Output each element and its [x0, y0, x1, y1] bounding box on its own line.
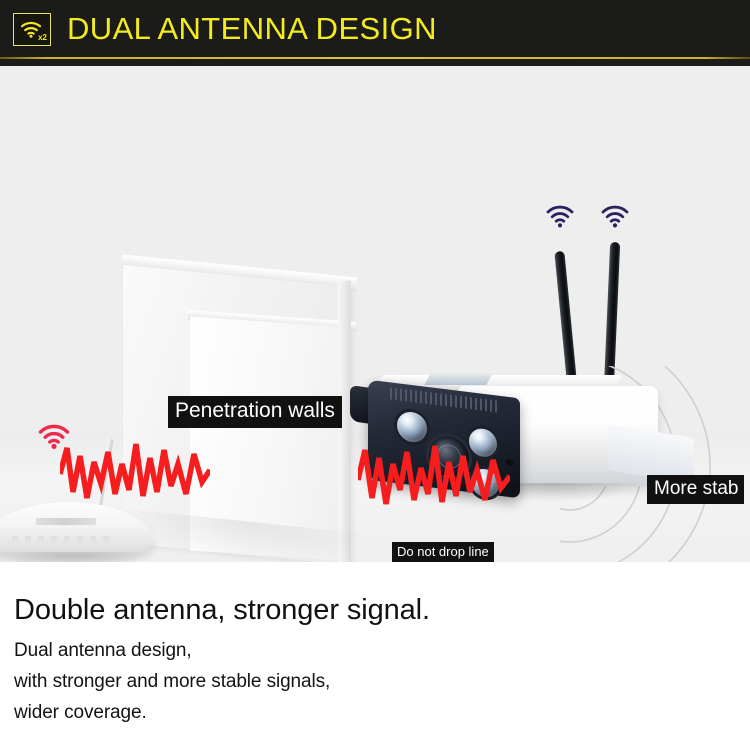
label-penetration-walls: Penetration walls: [168, 396, 342, 428]
router-shadow: [0, 552, 156, 562]
hero-illustration: Penetration walls Do not drop line More …: [0, 66, 750, 562]
section-footer-text: Double antenna, stronger signal. Dual an…: [0, 569, 750, 750]
router-indicator-leds: [12, 536, 112, 541]
router-brand-mark: [36, 518, 96, 525]
product-feature-page: x2 DUAL ANTENNA DESIGN: [0, 0, 750, 750]
wifi-multiplier-label: x2: [38, 34, 47, 42]
red-signal-waveform: [60, 434, 210, 515]
section-header: x2 DUAL ANTENNA DESIGN: [0, 0, 750, 66]
page-title: DUAL ANTENNA DESIGN: [67, 12, 437, 46]
header-divider: [0, 57, 750, 59]
footer-line-2: with stronger and more stable signals,: [14, 666, 750, 697]
red-signal-waveform: [358, 438, 510, 521]
label-do-not-drop-line: Do not drop line: [392, 542, 494, 562]
footer-line-1: Dual antenna design,: [14, 635, 750, 666]
wifi-signal-icon: [546, 205, 574, 234]
footer-heading: Double antenna, stronger signal.: [14, 591, 750, 629]
label-more-stable: More stab: [647, 475, 744, 504]
wifi-signal-icon: [601, 205, 629, 234]
wifi-x2-icon: x2: [13, 13, 51, 46]
camera-mount-bracket: [424, 371, 493, 385]
footer-line-3: wider coverage.: [14, 697, 750, 728]
